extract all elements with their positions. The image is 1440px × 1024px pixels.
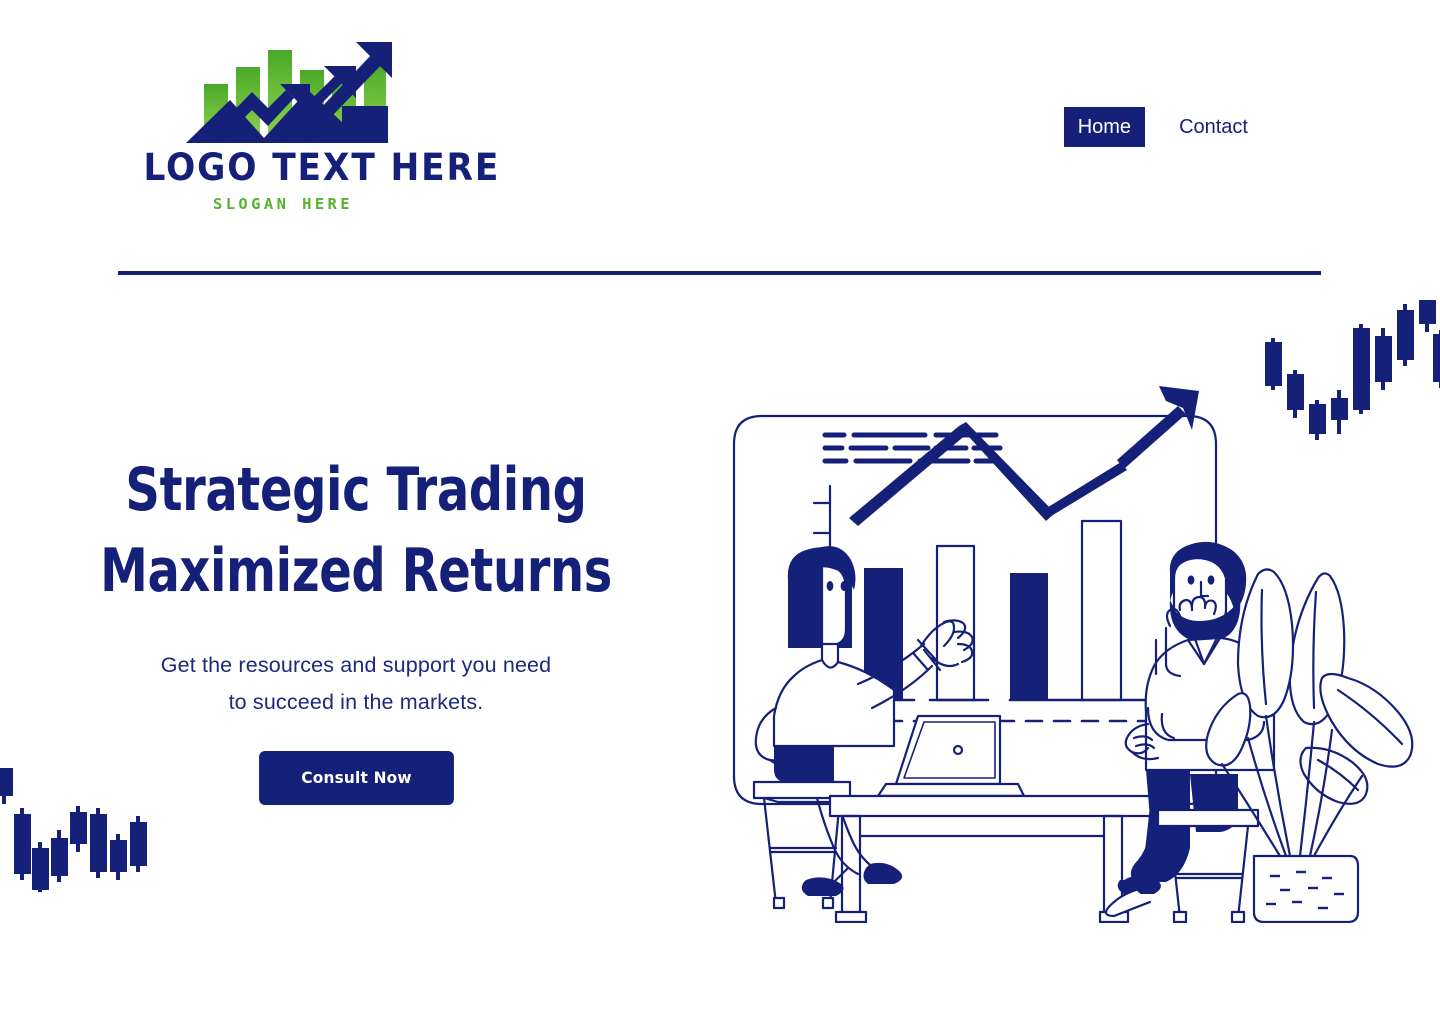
- consult-now-button[interactable]: Consult Now: [259, 751, 454, 805]
- headline-line-1: Strategic Trading: [71, 455, 641, 526]
- logo-text: LOGO TEXT HERE: [144, 149, 423, 186]
- bar-chart-arrow-logo-icon: [168, 28, 398, 143]
- two-people-reviewing-growth-chart-illustration: [718, 378, 1428, 928]
- bar-4: [1082, 521, 1121, 700]
- hero-subtitle: Get the resources and support you need t…: [0, 647, 712, 721]
- header-divider: [118, 271, 1321, 275]
- subtitle-line-2: to succeed in the markets.: [229, 690, 484, 714]
- landing-page: LOGO TEXT HERE SLOGAN HERE Home Contact …: [0, 0, 1440, 1024]
- logo-slogan: SLOGAN HERE: [133, 197, 433, 213]
- site-header: LOGO TEXT HERE SLOGAN HERE Home Contact: [0, 0, 1440, 250]
- trend-arrow-up-icon: [849, 386, 1199, 526]
- laptop: [878, 716, 1024, 796]
- page-title: Strategic Trading Maximized Returns: [71, 455, 641, 607]
- subtitle-line-1: Get the resources and support you need: [161, 653, 552, 677]
- bar-3: [1010, 573, 1048, 700]
- candlestick-chart-icon-bottom-left: [0, 768, 175, 918]
- hero-text-block: Strategic Trading Maximized Returns Get …: [0, 455, 712, 805]
- logo[interactable]: LOGO TEXT HERE SLOGAN HERE: [133, 28, 433, 213]
- main-navigation: Home Contact: [1064, 107, 1262, 147]
- nav-item-home[interactable]: Home: [1064, 107, 1145, 147]
- nav-item-contact[interactable]: Contact: [1165, 107, 1262, 147]
- table: [830, 796, 1158, 922]
- headline-line-2: Maximized Returns: [71, 536, 641, 607]
